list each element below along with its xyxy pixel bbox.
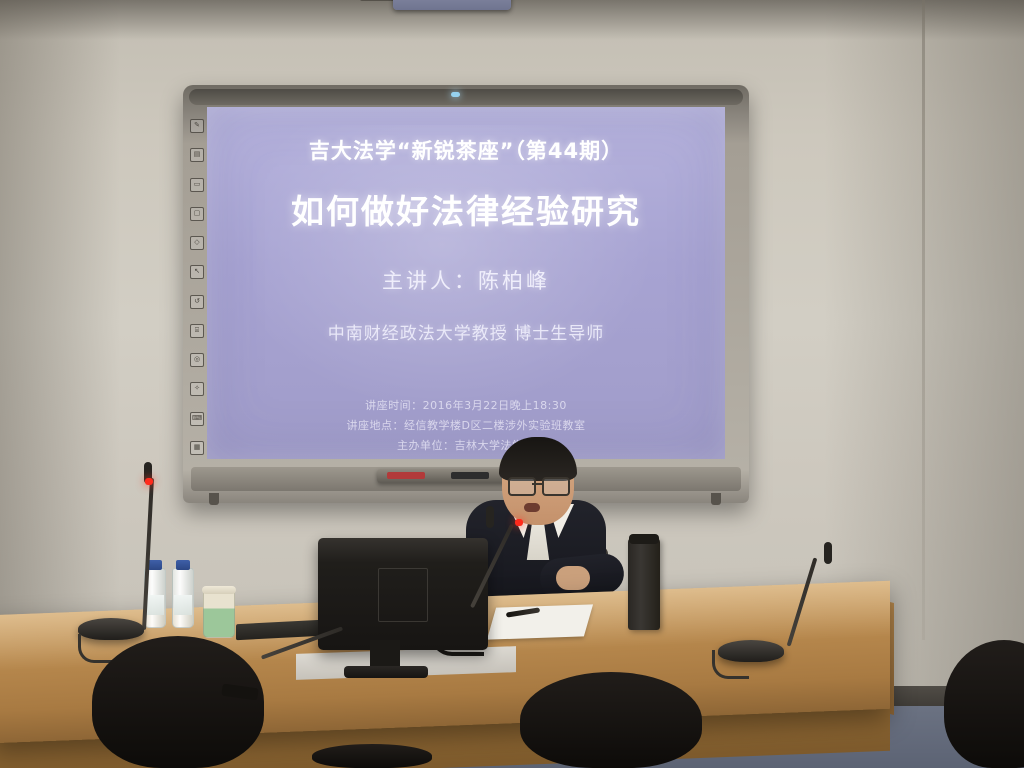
slide-speaker: 主讲人：陈柏峰: [207, 265, 725, 295]
slide-content: 吉大法学“新锐茶座”（第44期） 如何做好法律经验研究 主讲人：陈柏峰 中南财经…: [207, 107, 725, 459]
paper-cup: [203, 590, 235, 638]
whiteboard-side-toolbar[interactable]: ✎ ▤ ▭ ▢ ◇ ↖ ↺ ⌸ ◎ ✧ ⌨ ▦: [189, 115, 205, 459]
undo-icon[interactable]: ↺: [190, 295, 204, 309]
lecture-room-photo: ✎ ▤ ▭ ▢ ◇ ↖ ↺ ⌸ ◎ ✧ ⌨ ▦ 吉大法学“新锐茶座”（第44期）…: [0, 0, 1024, 768]
spotlight-icon[interactable]: ✧: [190, 382, 204, 396]
slide-header: 吉大法学“新锐茶座”（第44期）: [207, 135, 725, 165]
presenter-glasses-bridge: [532, 483, 542, 485]
mic-led-icon: [515, 519, 523, 526]
whiteboard-bracket-right: [711, 493, 721, 505]
pen-icon[interactable]: ✎: [190, 119, 204, 133]
slide-info-venue: 讲座地点：经信教学楼D区二楼涉外实验班教室: [207, 417, 725, 433]
mic-capsule: [486, 506, 494, 528]
mic-led-icon: [145, 478, 153, 485]
slide-info-host: 主办单位：吉林大学法学院: [207, 437, 725, 453]
power-led-icon: [451, 92, 460, 97]
marker-black-icon[interactable]: [451, 472, 489, 479]
presenter-hand: [556, 566, 590, 590]
water-bottle-2: [172, 568, 194, 628]
page-icon[interactable]: ▭: [190, 178, 204, 192]
keyboard-icon[interactable]: ⌨: [190, 412, 204, 426]
bottle-cap-icon: [148, 560, 162, 570]
thermos-flask: [628, 538, 660, 630]
audience-head-1: [92, 636, 264, 768]
monitor-vesa-mount: [378, 568, 428, 622]
save-icon[interactable]: ⌸: [190, 324, 204, 338]
bottle-label: [174, 595, 192, 615]
presenter-glasses-left-lens: [508, 477, 536, 496]
mic-cable: [78, 634, 115, 663]
slide-info-time: 讲座时间：2016年3月22日晚上18:30: [207, 397, 725, 413]
select-icon[interactable]: ↖: [190, 265, 204, 279]
marker-red-icon[interactable]: [387, 472, 425, 479]
ceiling-projector: [393, 0, 511, 10]
bottle-label: [146, 595, 164, 615]
paper-sheets: [487, 604, 593, 639]
interactive-whiteboard[interactable]: ✎ ▤ ▭ ▢ ◇ ↖ ↺ ⌸ ◎ ✧ ⌨ ▦ 吉大法学“新锐茶座”（第44期）…: [183, 85, 749, 503]
desktop-monitor[interactable]: [318, 538, 488, 650]
wall-seam: [922, 0, 925, 640]
presenter-mouth: [524, 503, 540, 512]
thermos-cap: [629, 534, 659, 544]
presenter-glasses-right-lens: [542, 477, 570, 496]
mic-capsule: [824, 542, 832, 564]
eraser-icon[interactable]: ▤: [190, 148, 204, 162]
paper-cup-lid: [202, 586, 236, 594]
shapes-icon[interactable]: ◇: [190, 236, 204, 250]
bottle-cap-icon: [176, 560, 190, 570]
slide-affiliation: 中南财经政法大学教授 博士生导师: [207, 319, 725, 344]
new-page-icon[interactable]: ▢: [190, 207, 204, 221]
audience-head-2: [520, 672, 702, 768]
mic-cable: [712, 650, 749, 679]
menu-icon[interactable]: ▦: [190, 441, 204, 455]
whiteboard-top-bevel: [189, 89, 743, 105]
slide-title: 如何做好法律经验研究: [207, 185, 725, 233]
audience-head-4: [312, 744, 432, 768]
whiteboard-bracket-left: [209, 493, 219, 505]
monitor-stand-base: [344, 666, 428, 678]
camera-icon[interactable]: ◎: [190, 353, 204, 367]
